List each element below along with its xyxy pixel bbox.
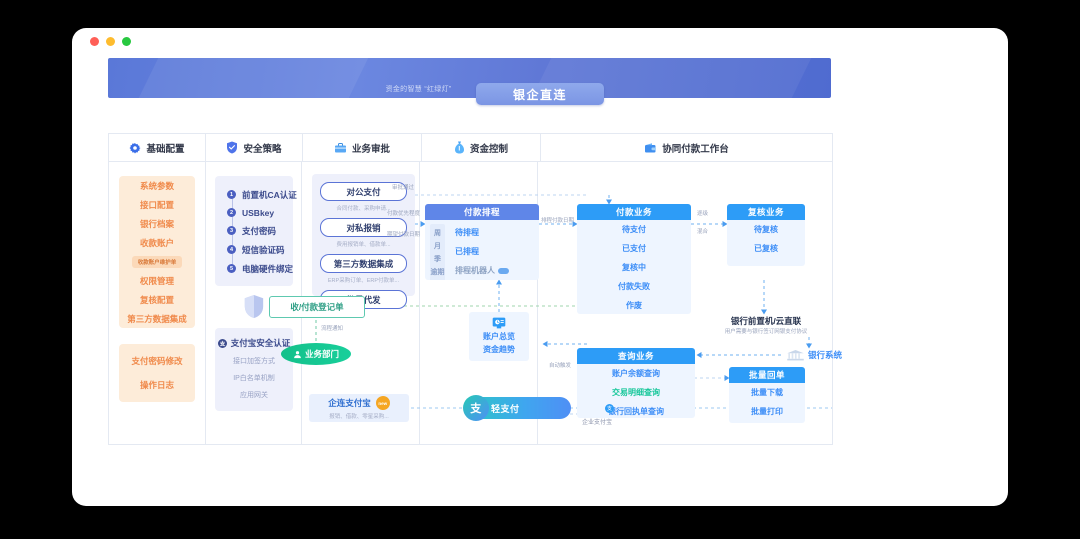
security-step[interactable]: 3 支付密码 bbox=[215, 221, 293, 240]
money-bag-icon bbox=[454, 141, 465, 154]
people-icon bbox=[293, 350, 302, 359]
step-number: 4 bbox=[227, 245, 236, 254]
payment-item-reviewing[interactable]: 复核中 bbox=[577, 258, 691, 277]
robot-toggle[interactable] bbox=[498, 268, 509, 274]
payment-schedule-card: 付款排程 周 月 季 逾期 待排程 已排程 排程机器人 bbox=[425, 204, 539, 280]
batch-item-download[interactable]: 批量下载 bbox=[729, 383, 805, 402]
schedule-period-selector[interactable]: 周 月 季 逾期 bbox=[430, 224, 445, 280]
payment-business-card: 付款业务 待支付 已支付 复核中 付款失败 作废 bbox=[577, 204, 691, 314]
alipay-security-label: 支付宝安全认证 bbox=[231, 337, 291, 349]
column-label: 资金控制 bbox=[470, 141, 508, 155]
bank-front-machine-node: 银行前置机/云直联 用户需要与银行签订网银支付协议 bbox=[699, 315, 833, 335]
step-label: USBkey bbox=[242, 208, 274, 218]
config-item[interactable]: 银行档案 bbox=[140, 218, 174, 230]
security-step[interactable]: 5 电脑硬件绑定 bbox=[215, 259, 293, 278]
account-overview-line2: 资金趋势 bbox=[483, 344, 515, 355]
alipay-security-title: 支 支付宝安全认证 bbox=[218, 337, 291, 349]
payment-schedule-header: 付款排程 bbox=[425, 204, 539, 220]
enterprise-alipay-title-row: 企连支付宝 new bbox=[328, 396, 390, 410]
approved-label: 审批通过 bbox=[392, 184, 414, 192]
step-number: 3 bbox=[227, 226, 236, 235]
screenshot-stage: 资金的智慧 “红绿灯” 支付的行为 “驾驶舱” 银企直连 基础配置 安全策略 bbox=[0, 0, 1080, 539]
column-label: 协同付款工作台 bbox=[662, 141, 729, 155]
batch-receipt-card: 批量回单 批量下载 批量打印 bbox=[729, 367, 805, 423]
close-button[interactable] bbox=[90, 37, 99, 46]
period-option[interactable]: 周 bbox=[434, 228, 441, 238]
config-item[interactable]: 支付密码修改 bbox=[131, 355, 182, 367]
approval-pill-third-party-integration[interactable]: 第三方数据集成 bbox=[320, 254, 407, 273]
flow-notice-label: 流程通知 bbox=[321, 325, 343, 333]
step-label: 短信验证码 bbox=[242, 244, 285, 256]
business-department-node[interactable]: 业务部门 bbox=[281, 343, 351, 365]
column-header-basic-config: 基础配置 bbox=[109, 134, 206, 161]
bank-front-machine-sub: 用户需要与银行签订网银支付协议 bbox=[699, 327, 833, 335]
column-header-fund-control: 资金控制 bbox=[422, 134, 541, 161]
bank-front-machine-title: 银行前置机/云直联 bbox=[699, 315, 833, 327]
new-badge: new bbox=[376, 396, 390, 410]
step-number: 2 bbox=[227, 208, 236, 217]
bank-icon bbox=[787, 350, 804, 361]
config-item[interactable]: 接口配置 bbox=[140, 199, 174, 211]
expected-payment-date-label: 期望付款日期 bbox=[387, 231, 420, 239]
period-option[interactable]: 月 bbox=[434, 241, 441, 251]
diagram-body: 系统参数 接口配置 银行档案 收款账户 收款账户维护单 权限管理 复核配置 第三… bbox=[109, 162, 832, 444]
basic-config-extra-panel: 支付密码修改 操作日志 bbox=[119, 344, 195, 402]
receive-pay-register-form[interactable]: 收/付款登记单 bbox=[269, 296, 365, 318]
shield-check-icon bbox=[226, 141, 238, 154]
query-item-transaction-detail[interactable]: 交易明细查询 bbox=[577, 383, 695, 402]
column-header-workbench: 协同付款工作台 bbox=[541, 134, 832, 161]
light-pay-node[interactable]: 支 轻支付 bbox=[467, 397, 571, 419]
column-header-approval: 业务审批 bbox=[303, 134, 422, 161]
payment-priority-label: 付款优先程度 bbox=[387, 210, 420, 218]
step-label: 电脑硬件绑定 bbox=[242, 263, 293, 275]
business-department-label: 业务部门 bbox=[305, 348, 339, 360]
bank-system-label: 银行系统 bbox=[808, 349, 842, 361]
minimize-button[interactable] bbox=[106, 37, 115, 46]
step-label: 前置机CA认证 bbox=[242, 189, 297, 201]
bank-system-node[interactable]: 银行系统 bbox=[787, 349, 842, 361]
query-business-header: 查询业务 bbox=[577, 348, 695, 364]
approval-pill-sub: ERP采购订单、ERP付款单... bbox=[312, 276, 415, 284]
window-titlebar bbox=[72, 28, 1008, 54]
config-item[interactable]: 系统参数 bbox=[140, 180, 174, 192]
column-label: 业务审批 bbox=[352, 141, 390, 155]
auto-trigger-label: 自动触发 bbox=[549, 362, 571, 370]
column-header-row: 基础配置 安全策略 业务审批 bbox=[109, 134, 832, 162]
account-overview-node[interactable]: 账户总览 资金趋势 bbox=[469, 312, 529, 361]
shield-icon bbox=[243, 294, 265, 319]
briefcase-icon bbox=[334, 142, 347, 154]
hero-banner: 资金的智慧 “红绿灯” 支付的行为 “驾驶舱” bbox=[108, 58, 831, 98]
query-business-card: 查询业务 账户余额查询 交易明细查询 银行回执单查询 当日收付款记录 bbox=[577, 348, 695, 418]
gear-icon bbox=[129, 142, 141, 154]
batch-item-print[interactable]: 批量打印 bbox=[729, 402, 805, 421]
maximize-button[interactable] bbox=[122, 37, 131, 46]
review-item-done[interactable]: 已复核 bbox=[727, 239, 805, 258]
light-pay-glyph: 支 bbox=[463, 395, 489, 421]
alipay-security-panel: 支 支付宝安全认证 接口加签方式 IP白名单机制 应用网关 bbox=[215, 328, 293, 411]
alipay-security-item[interactable]: IP白名单机制 bbox=[233, 373, 275, 383]
security-step[interactable]: 1 前置机CA认证 bbox=[215, 185, 293, 204]
diagram-board: 基础配置 安全策略 业务审批 bbox=[108, 133, 833, 445]
payment-item-void[interactable]: 作废 bbox=[577, 296, 691, 314]
config-item[interactable]: 复核配置 bbox=[140, 294, 174, 306]
monitor-clock-icon bbox=[492, 317, 506, 329]
enterprise-alipay-label: 企连支付宝 bbox=[328, 397, 371, 409]
payment-item-failed[interactable]: 付款失败 bbox=[577, 277, 691, 296]
schedule-payment-date-label: 排程付款日期 bbox=[541, 217, 574, 225]
level-mix-label-1: 逐级 bbox=[697, 210, 708, 218]
banner-title: 银企直连 bbox=[476, 83, 604, 105]
level-mix-label-2: 混合 bbox=[697, 228, 708, 236]
step-number: 1 bbox=[227, 190, 236, 199]
query-item-receipt[interactable]: 银行回执单查询 bbox=[577, 402, 695, 418]
banner-sub-left: 资金的智慧 “红绿灯” bbox=[386, 84, 452, 94]
batch-receipt-header: 批量回单 bbox=[729, 367, 805, 383]
alipay-icon: 支 bbox=[218, 339, 227, 348]
security-step[interactable]: 2 USBkey bbox=[215, 204, 293, 221]
step-label: 支付密码 bbox=[242, 225, 276, 237]
divider-1 bbox=[205, 162, 206, 444]
receiving-account-form-chip[interactable]: 收款账户维护单 bbox=[132, 256, 183, 268]
review-business-header: 复核业务 bbox=[727, 204, 805, 220]
period-option[interactable]: 季 bbox=[434, 254, 441, 264]
schedule-item-scheduled[interactable]: 已排程 bbox=[449, 242, 539, 261]
schedule-item-robot[interactable]: 排程机器人 bbox=[455, 265, 495, 276]
account-overview-line1: 账户总览 bbox=[483, 331, 515, 342]
step-number: 5 bbox=[227, 264, 236, 273]
query-item-balance[interactable]: 账户余额查询 bbox=[577, 364, 695, 383]
security-step[interactable]: 4 短信验证码 bbox=[215, 240, 293, 259]
review-business-card: 复核业务 待复核 已复核 bbox=[727, 204, 805, 266]
wallet-icon bbox=[644, 142, 657, 154]
column-label: 基础配置 bbox=[146, 141, 184, 155]
payment-item-paid[interactable]: 已支付 bbox=[577, 239, 691, 258]
column-header-security: 安全策略 bbox=[206, 134, 303, 161]
payment-item-pending[interactable]: 待支付 bbox=[577, 220, 691, 239]
alipay-ent-icon: 支 bbox=[605, 404, 614, 413]
alipay-ent-label: 企业支付宝 bbox=[582, 417, 612, 426]
enterprise-alipay-node[interactable]: 企连支付宝 new 报销、借款、零星采购... bbox=[309, 394, 409, 422]
enterprise-alipay-sub: 报销、借款、零星采购... bbox=[329, 412, 389, 420]
config-item[interactable]: 权限管理 bbox=[140, 275, 174, 287]
schedule-item-pending[interactable]: 待排程 bbox=[449, 223, 539, 242]
banner-subtitles: 资金的智慧 “红绿灯” 支付的行为 “驾驶舱” bbox=[108, 84, 831, 94]
config-item[interactable]: 操作日志 bbox=[140, 379, 174, 391]
light-pay-label: 轻支付 bbox=[491, 402, 520, 415]
review-item-pending[interactable]: 待复核 bbox=[727, 220, 805, 239]
basic-config-panel: 系统参数 接口配置 银行档案 收款账户 收款账户维护单 权限管理 复核配置 第三… bbox=[119, 176, 195, 328]
divider-3 bbox=[419, 162, 420, 444]
alipay-security-item[interactable]: 接口加签方式 bbox=[233, 356, 275, 366]
alipay-security-item[interactable]: 应用网关 bbox=[240, 390, 268, 400]
column-label: 安全策略 bbox=[243, 141, 281, 155]
security-steps-panel: 1 前置机CA认证 2 USBkey 3 支付密码 4 短信验证码 5 电脑 bbox=[215, 176, 293, 286]
approval-pill-sub: 费用报销单、借款单... bbox=[312, 240, 415, 248]
payment-business-header: 付款业务 bbox=[577, 204, 691, 220]
period-option[interactable]: 逾期 bbox=[431, 267, 445, 277]
config-item[interactable]: 第三方数据集成 bbox=[127, 313, 187, 325]
config-item[interactable]: 收款账户 bbox=[140, 237, 174, 249]
